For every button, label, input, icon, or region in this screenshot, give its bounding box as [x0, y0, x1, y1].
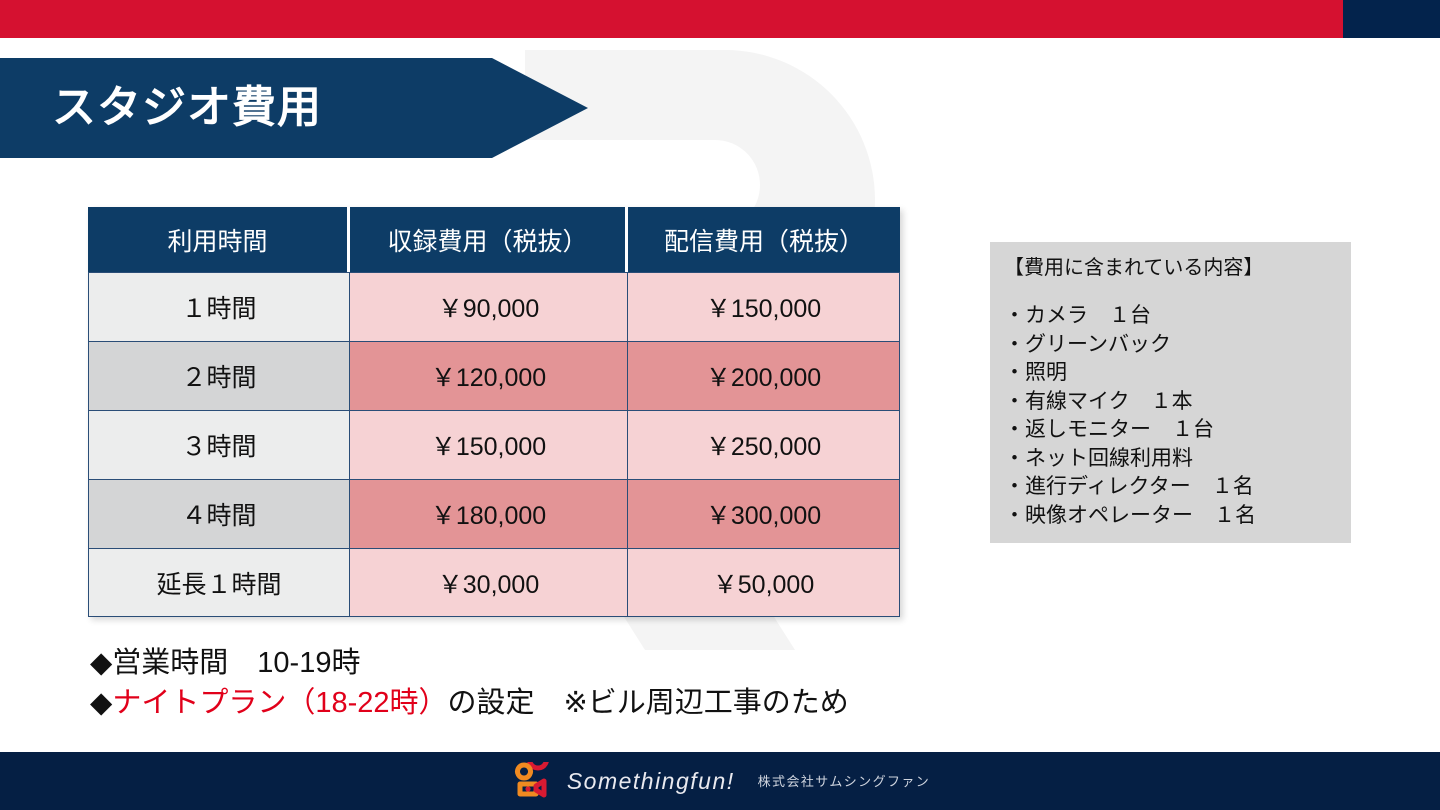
note-night-plan-highlight: ナイトプラン（18-22時）: [112, 687, 447, 719]
footer-bar: Somethingfun! 株式会社サムシングファン: [0, 752, 1440, 810]
cell-recording-fee: ￥120,000: [350, 341, 628, 410]
list-item: ・グリーンバック: [1004, 331, 1351, 360]
column-header-recording-fee: 収録費用（税抜）: [350, 207, 628, 272]
table-header-row: 利用時間 収録費用（税抜） 配信費用（税抜）: [88, 207, 900, 272]
cell-streaming-fee: ￥300,000: [628, 479, 900, 548]
note-bullet: ◆: [90, 687, 112, 719]
table-row: ３時間 ￥150,000 ￥250,000: [88, 410, 900, 479]
included-items-box: 【費用に含まれている内容】 ・カメラ １台 ・グリーンバック ・照明 ・有線マイ…: [990, 242, 1351, 543]
notes-block: ◆営業時間 10-19時 ◆ナイトプラン（18-22時）の設定 ※ビル周辺工事の…: [90, 643, 849, 723]
note-business-hours: ◆営業時間 10-19時: [90, 643, 849, 683]
cell-usage-time: ２時間: [88, 341, 350, 410]
table-row: １時間 ￥90,000 ￥150,000: [88, 272, 900, 341]
table-row: 延長１時間 ￥30,000 ￥50,000: [88, 548, 900, 617]
top-accent-bar-red: [0, 0, 1343, 38]
note-night-plan: ◆ナイトプラン（18-22時）の設定 ※ビル周辺工事のため: [90, 683, 849, 723]
cell-streaming-fee: ￥200,000: [628, 341, 900, 410]
cell-recording-fee: ￥90,000: [350, 272, 628, 341]
list-item: ・ネット回線利用料: [1004, 445, 1351, 474]
list-item: ・カメラ １台: [1004, 302, 1351, 331]
list-item: ・返しモニター １台: [1004, 416, 1351, 445]
list-item: ・有線マイク １本: [1004, 388, 1351, 417]
cell-usage-time: １時間: [88, 272, 350, 341]
cell-recording-fee: ￥30,000: [350, 548, 628, 617]
column-header-usage-time: 利用時間: [88, 207, 350, 272]
top-accent-bar: [0, 0, 1440, 38]
cell-recording-fee: ￥150,000: [350, 410, 628, 479]
footer-brand-name: Somethingfun!: [567, 770, 735, 793]
included-items-list: ・カメラ １台 ・グリーンバック ・照明 ・有線マイク １本 ・返しモニター １…: [1004, 302, 1351, 530]
title-banner: スタジオ費用: [0, 58, 588, 158]
column-header-streaming-fee: 配信費用（税抜）: [628, 207, 900, 272]
cell-recording-fee: ￥180,000: [350, 479, 628, 548]
studio-price-table: 利用時間 収録費用（税抜） 配信費用（税抜） １時間 ￥90,000 ￥150,…: [88, 207, 900, 617]
somethingfun-camera-logo-icon: [510, 762, 556, 800]
table-row: ４時間 ￥180,000 ￥300,000: [88, 479, 900, 548]
cell-usage-time: 延長１時間: [88, 548, 350, 617]
cell-streaming-fee: ￥250,000: [628, 410, 900, 479]
cell-usage-time: ３時間: [88, 410, 350, 479]
cell-streaming-fee: ￥50,000: [628, 548, 900, 617]
note-night-plan-rest: の設定 ※ビル周辺工事のため: [447, 687, 848, 719]
page-title: スタジオ費用: [52, 86, 322, 130]
footer-content: Somethingfun! 株式会社サムシングファン: [510, 762, 930, 800]
table-row: ２時間 ￥120,000 ￥200,000: [88, 341, 900, 410]
cell-streaming-fee: ￥150,000: [628, 272, 900, 341]
list-item: ・照明: [1004, 359, 1351, 388]
cell-usage-time: ４時間: [88, 479, 350, 548]
list-item: ・進行ディレクター １名: [1004, 473, 1351, 502]
list-item: ・映像オペレーター １名: [1004, 502, 1351, 531]
top-accent-bar-navy: [1343, 0, 1440, 38]
included-items-title: 【費用に含まれている内容】: [1004, 256, 1351, 280]
footer-company-name: 株式会社サムシングファン: [758, 775, 931, 788]
